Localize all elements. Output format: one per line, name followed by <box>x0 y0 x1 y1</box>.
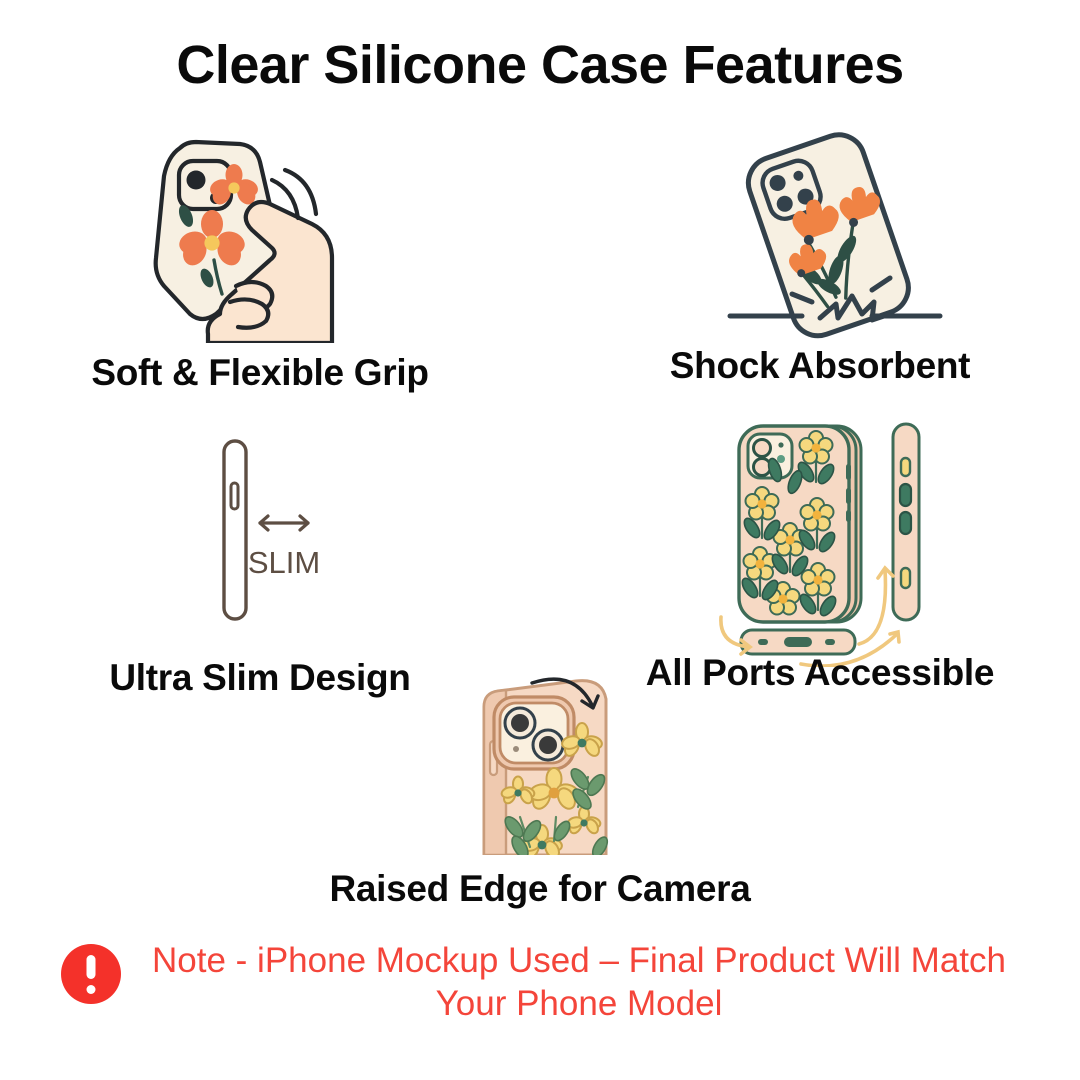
feature-label-camera: Raised Edge for Camera <box>280 868 800 910</box>
phone-camera-bump-icon <box>450 665 650 855</box>
phone-side-profile-icon: SLIM <box>180 425 360 635</box>
exclamation-circle-icon <box>61 944 121 1004</box>
note-text: Note - iPhone Mockup Used – Final Produc… <box>139 940 1019 1025</box>
phone-impact-burst-icon <box>720 118 950 343</box>
mockup-disclaimer-note: Note - iPhone Mockup Used – Final Produc… <box>0 940 1080 1025</box>
hand-flexing-phone-case-icon <box>120 118 390 343</box>
infographic-page: Clear Silicone Case Features <box>0 0 1080 1080</box>
side-button-rail <box>893 424 919 620</box>
feature-label-slim: Ultra Slim Design <box>0 657 520 699</box>
phone-ports-edges-icon <box>705 412 955 667</box>
slim-callout-label: SLIM <box>248 545 320 580</box>
feature-label-grip: Soft & Flexible Grip <box>0 352 520 394</box>
bottom-port-strip <box>741 630 855 654</box>
feature-label-shock: Shock Absorbent <box>560 345 1080 387</box>
page-title: Clear Silicone Case Features <box>0 34 1080 96</box>
